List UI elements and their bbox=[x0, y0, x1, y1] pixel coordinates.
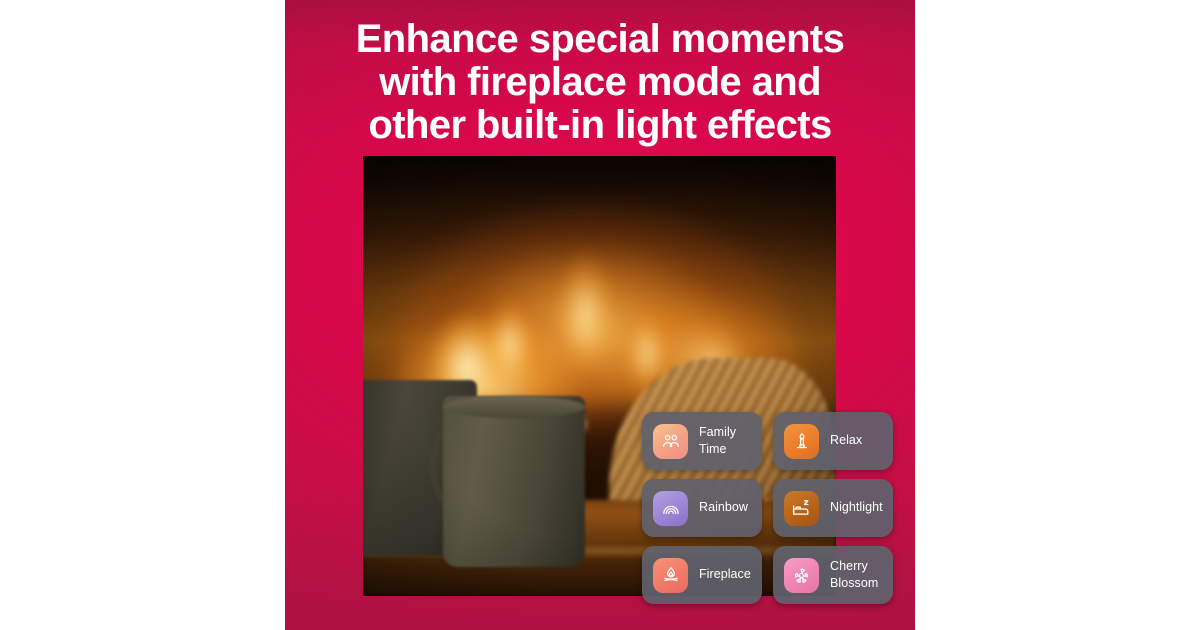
scene-card-fireplace[interactable]: Fireplace bbox=[642, 546, 762, 604]
scene-card-nightlight[interactable]: Nightlight bbox=[773, 479, 893, 537]
scene-card-family-time[interactable]: Family Time bbox=[642, 412, 762, 470]
headline-line-3: other built-in light effects bbox=[309, 104, 891, 147]
blossom-icon bbox=[784, 558, 819, 593]
candle-icon bbox=[784, 424, 819, 459]
scene-card-rainbow[interactable]: Rainbow bbox=[642, 479, 762, 537]
scene-list: Family Time Relax bbox=[642, 412, 910, 604]
rainbow-icon bbox=[653, 491, 688, 526]
page-title: Enhance special moments with fireplace m… bbox=[285, 18, 915, 148]
family-icon bbox=[653, 424, 688, 459]
scene-card-relax[interactable]: Relax bbox=[773, 412, 893, 470]
scene-label: Family Time bbox=[699, 424, 762, 459]
scene-label: Rainbow bbox=[699, 499, 748, 516]
headline-line-1: Enhance special moments bbox=[309, 18, 891, 61]
promo-panel: Enhance special moments with fireplace m… bbox=[285, 0, 915, 630]
scene-label: Nightlight bbox=[830, 499, 883, 516]
bed-sleep-icon bbox=[784, 491, 819, 526]
scene-label: Cherry Blossom bbox=[830, 558, 893, 593]
campfire-icon bbox=[653, 558, 688, 593]
headline-line-2: with fireplace mode and bbox=[309, 61, 891, 104]
scene-label: Relax bbox=[830, 432, 862, 449]
screenshot-canvas: Enhance special moments with fireplace m… bbox=[0, 0, 1200, 630]
scene-card-cherry-blossom[interactable]: Cherry Blossom bbox=[773, 546, 893, 604]
scene-label: Fireplace bbox=[699, 566, 751, 583]
